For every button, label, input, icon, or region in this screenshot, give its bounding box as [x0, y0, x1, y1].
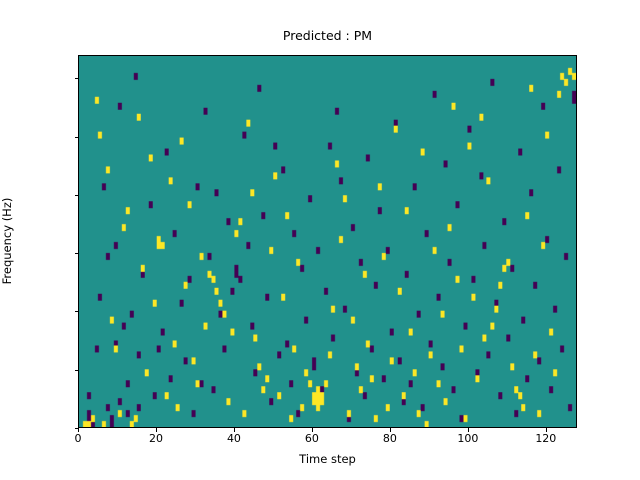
y-tick-mark — [75, 137, 79, 138]
x-tick-label: 100 — [457, 432, 478, 445]
x-tick-mark — [468, 428, 469, 432]
x-tick-mark — [234, 428, 235, 432]
x-tick-mark — [390, 428, 391, 432]
y-tick-mark — [75, 253, 79, 254]
x-tick-label: 40 — [227, 432, 241, 445]
y-tick-mark — [75, 370, 79, 371]
heatmap-axes — [78, 55, 577, 428]
x-tick-mark — [78, 428, 79, 432]
chart-title: Predicted : PM — [78, 28, 577, 43]
y-axis-label: Frequency (Hz) — [0, 198, 14, 285]
x-tick-mark — [156, 428, 157, 432]
x-tick-label: 120 — [535, 432, 556, 445]
y-tick-mark — [75, 78, 79, 79]
y-tick-mark — [75, 311, 79, 312]
figure-canvas: Predicted : PM Frequency (Hz) Time step … — [0, 0, 640, 480]
x-tick-mark — [312, 428, 313, 432]
x-tick-mark — [546, 428, 547, 432]
x-tick-label: 60 — [305, 432, 319, 445]
x-tick-label: 20 — [149, 432, 163, 445]
x-tick-label: 0 — [75, 432, 82, 445]
x-tick-label: 80 — [383, 432, 397, 445]
heatmap-image — [79, 56, 576, 427]
x-axis-label: Time step — [78, 452, 577, 466]
y-tick-mark — [75, 195, 79, 196]
